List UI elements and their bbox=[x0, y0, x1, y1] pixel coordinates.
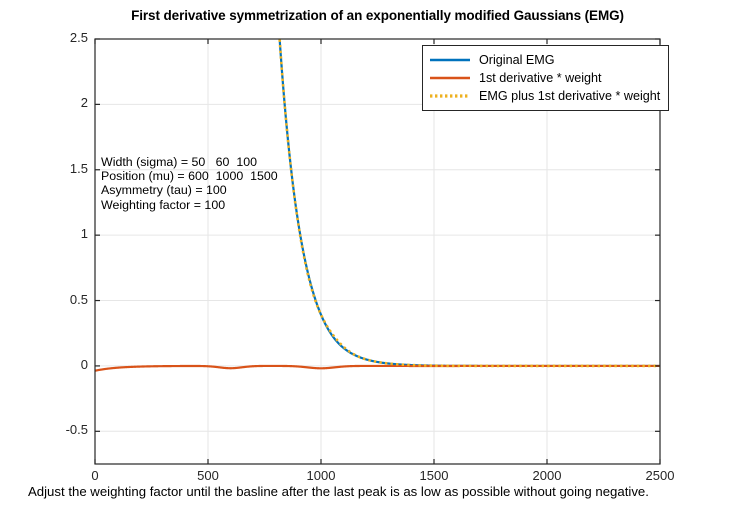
parameter-annotation: Width (sigma) = 50 60 100Position (mu) =… bbox=[101, 155, 278, 212]
annotation-line-4: Weighting factor = 100 bbox=[101, 198, 278, 212]
y-axis-tick-label: -0.5 bbox=[48, 422, 88, 437]
legend-color-swatch bbox=[429, 90, 471, 102]
x-axis-tick-label: 2500 bbox=[630, 468, 690, 483]
chart-legend: Original EMG1st derivative * weightEMG p… bbox=[422, 45, 669, 111]
y-axis-tick-label: 2 bbox=[48, 95, 88, 110]
x-axis-tick-label: 0 bbox=[65, 468, 125, 483]
figure-canvas: First derivative symmetrization of an ex… bbox=[0, 0, 730, 513]
y-axis-tick-label: 0.5 bbox=[48, 292, 88, 307]
legend-item[interactable]: Original EMG bbox=[429, 51, 660, 69]
x-axis-tick-label: 500 bbox=[178, 468, 238, 483]
y-axis-tick-label: 2.5 bbox=[48, 30, 88, 45]
legend-item-label: EMG plus 1st derivative * weight bbox=[479, 89, 660, 103]
legend-item-label: Original EMG bbox=[479, 53, 555, 67]
legend-color-swatch bbox=[429, 72, 471, 84]
annotation-line-1: Width (sigma) = 50 60 100 bbox=[101, 155, 278, 169]
legend-color-swatch bbox=[429, 54, 471, 66]
y-axis-tick-label: 1 bbox=[48, 226, 88, 241]
legend-item[interactable]: 1st derivative * weight bbox=[429, 69, 660, 87]
x-axis-tick-label: 2000 bbox=[517, 468, 577, 483]
legend-item[interactable]: EMG plus 1st derivative * weight bbox=[429, 87, 660, 105]
annotation-line-3: Asymmetry (tau) = 100 bbox=[101, 183, 278, 197]
x-axis-tick-label: 1500 bbox=[404, 468, 464, 483]
legend-item-label: 1st derivative * weight bbox=[479, 71, 602, 85]
y-axis-tick-label: 1.5 bbox=[48, 161, 88, 176]
figure-caption: Adjust the weighting factor until the ba… bbox=[28, 484, 649, 499]
annotation-line-2: Position (mu) = 600 1000 1500 bbox=[101, 169, 278, 183]
x-axis-tick-label: 1000 bbox=[291, 468, 351, 483]
y-axis-tick-label: 0 bbox=[48, 357, 88, 372]
